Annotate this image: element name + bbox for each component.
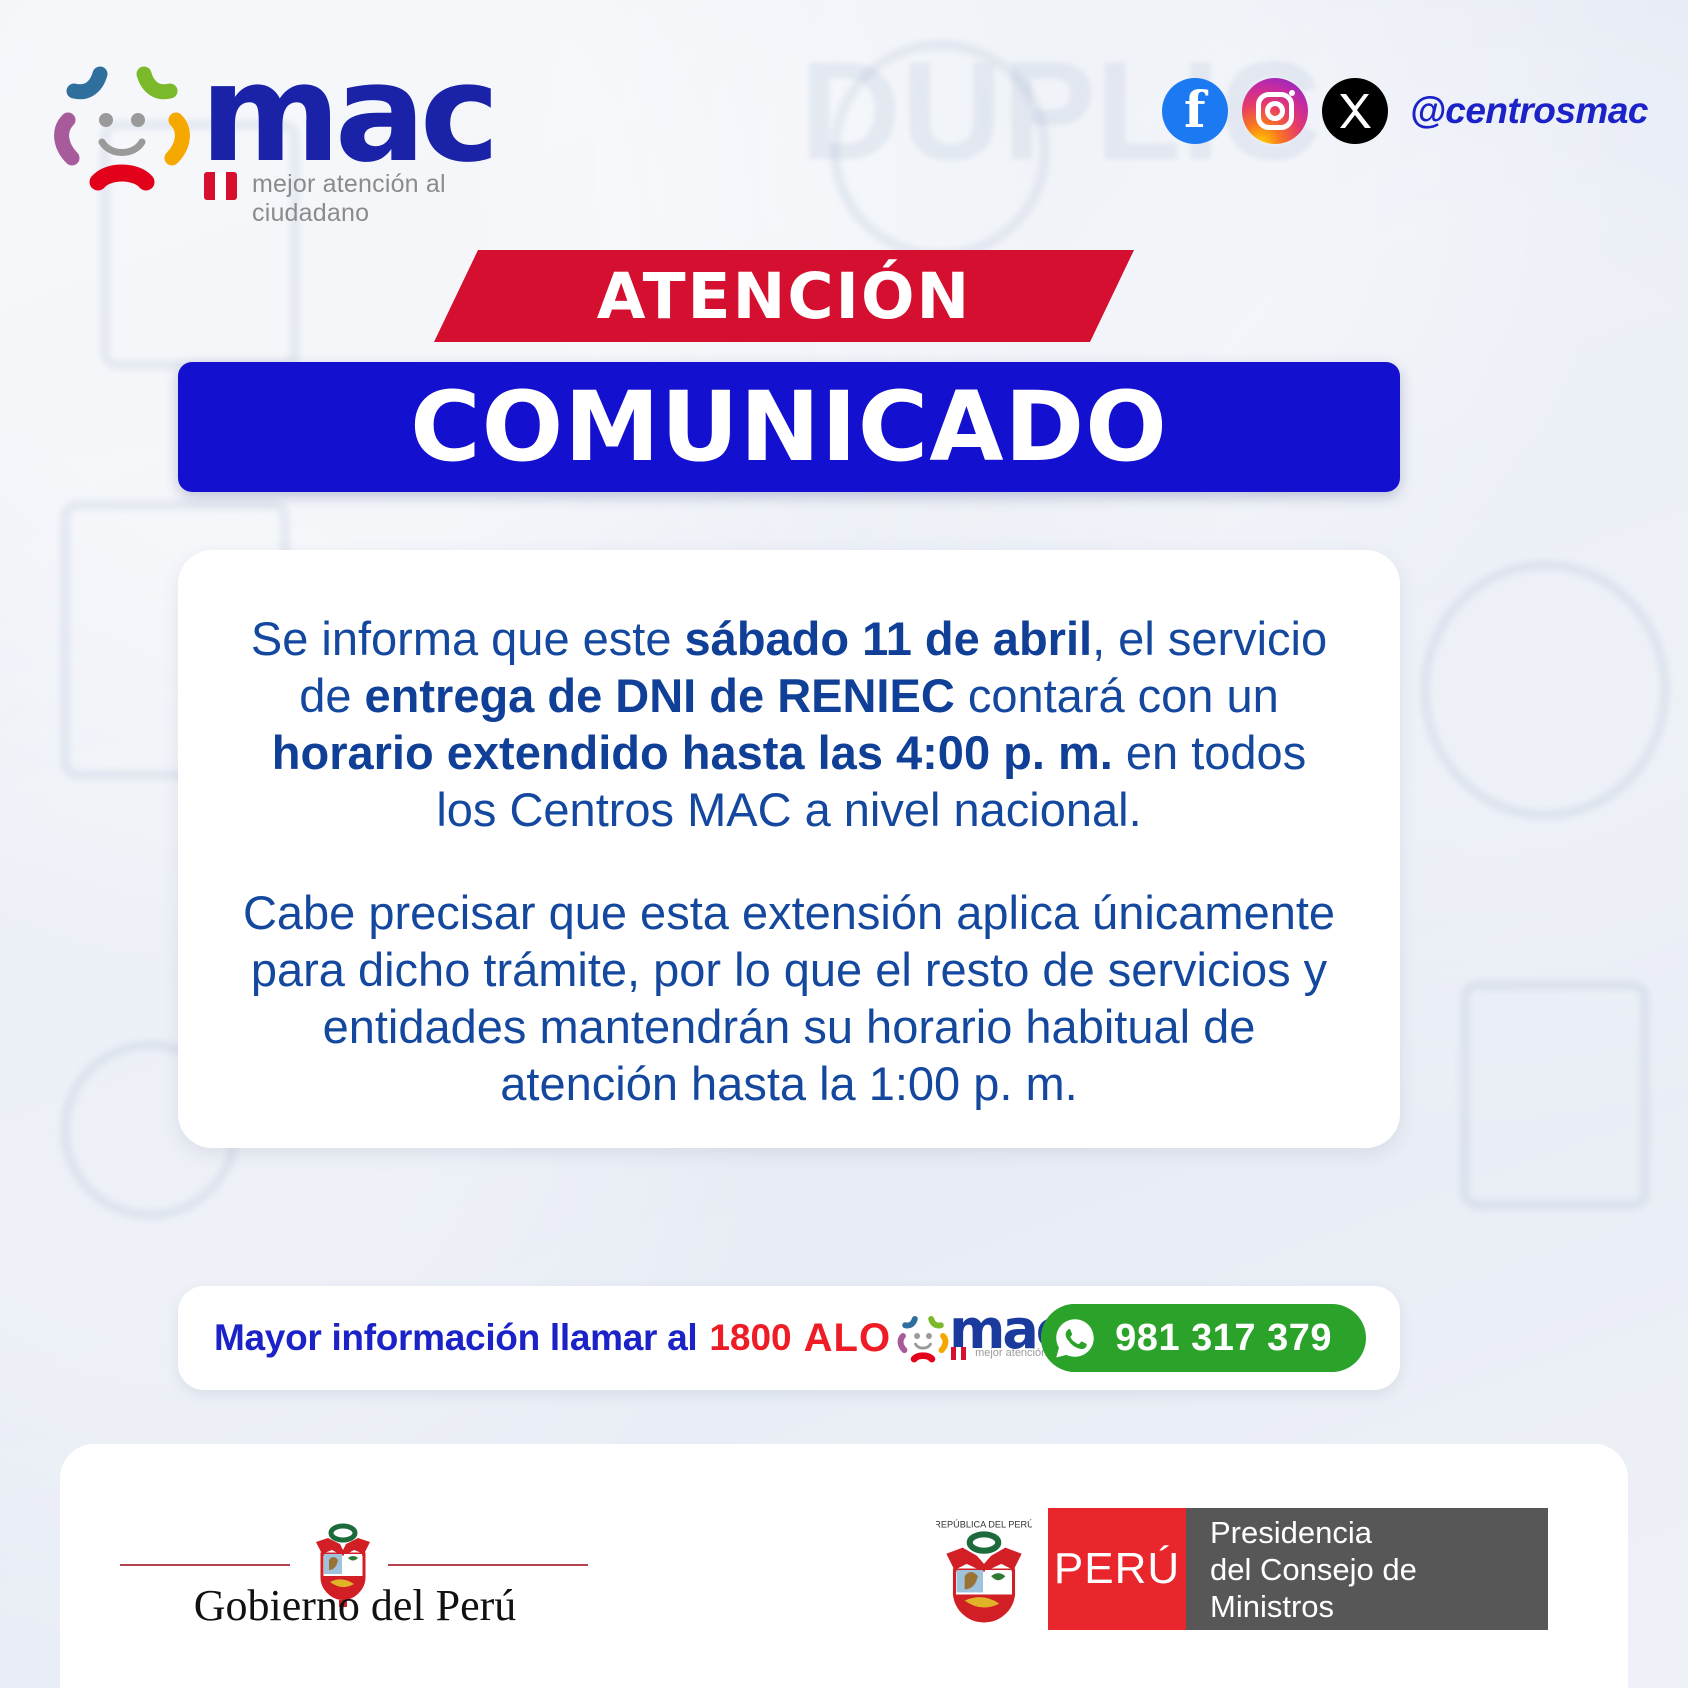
msg-bold-date: sábado 11 de abril — [685, 612, 1093, 665]
whatsapp-button[interactable]: 981 317 379 — [1041, 1304, 1366, 1372]
contact-info-label: Mayor información llamar al — [214, 1317, 697, 1359]
gobierno-del-peru-logo: Gobierno del Perú — [120, 1514, 590, 1644]
pcm-crest-caption: REPÚBLICA DEL PERÚ — [936, 1519, 1032, 1529]
mac-wordmark: mac — [200, 46, 494, 181]
divider-right — [388, 1564, 588, 1566]
poster-footer: Gobierno del Perú REPÚBLICA DEL PERÚ — [60, 1444, 1628, 1688]
instagram-icon[interactable] — [1242, 78, 1308, 144]
msg-bold-service: entrega de DNI de RENIEC — [365, 669, 955, 722]
poster-header: mac mejor atención al ciudadano @centros… — [0, 0, 1688, 215]
mac-logo: mac mejor atención al ciudadano — [52, 52, 552, 202]
pcm-line-1: Presidencia — [1210, 1514, 1548, 1551]
pcm-line-2: del Consejo de Ministros — [1210, 1551, 1548, 1625]
msg-part: Se informa que este — [251, 612, 685, 665]
watermark-shape — [1420, 560, 1670, 820]
x-twitter-icon[interactable] — [1322, 78, 1388, 144]
attention-label: ATENCIÓN — [597, 260, 972, 333]
whatsapp-number: 981 317 379 — [1115, 1317, 1332, 1360]
contact-strip: Mayor información llamar al 1800 ALO mac… — [178, 1286, 1400, 1390]
message-paragraph-2: Cabe precisar que esta extensión aplica … — [240, 884, 1338, 1112]
contact-phone-number: 1800 — [709, 1317, 791, 1359]
watermark-shape — [1460, 980, 1650, 1210]
comunicado-title: COMUNICADO — [410, 371, 1168, 483]
mac-star-icon — [52, 58, 192, 198]
message-card: Se informa que este sábado 11 de abril, … — [178, 550, 1400, 1148]
msg-bold-schedule: horario extendido hasta las 4:00 p. m. — [272, 726, 1113, 779]
divider-left — [120, 1564, 290, 1566]
pcm-logo: REPÚBLICA DEL PERÚ PERÚ Presidencia del — [920, 1508, 1548, 1630]
peru-flag-icon — [951, 1347, 971, 1360]
social-links: @centrosmac — [1162, 78, 1648, 144]
pcm-name-block: Presidencia del Consejo de Ministros — [1186, 1508, 1548, 1630]
message-paragraph-1: Se informa que este sábado 11 de abril, … — [240, 610, 1338, 838]
contact-info: Mayor información llamar al 1800 ALO mac… — [214, 1307, 1087, 1369]
peru-flag-icon — [204, 172, 248, 200]
comunicado-banner: COMUNICADO — [178, 362, 1400, 492]
mac-star-icon — [897, 1313, 949, 1365]
attention-banner: ATENCIÓN — [434, 250, 1134, 342]
pcm-country-block: PERÚ — [1048, 1508, 1186, 1630]
gobierno-label: Gobierno del Perú — [120, 1580, 590, 1631]
peru-coat-of-arms-icon: REPÚBLICA DEL PERÚ — [936, 1513, 1032, 1625]
poster-canvas: DUPLIC mac mejor atención al ciudadano — [0, 0, 1688, 1688]
social-handle[interactable]: @centrosmac — [1410, 90, 1648, 132]
message-body: Se informa que este sábado 11 de abril, … — [240, 610, 1338, 1112]
alo-label: ALO — [804, 1316, 891, 1361]
pcm-country-label: PERÚ — [1054, 1544, 1180, 1594]
facebook-icon[interactable] — [1162, 78, 1228, 144]
whatsapp-icon — [1041, 1304, 1109, 1372]
pcm-crest-block: REPÚBLICA DEL PERÚ — [920, 1508, 1048, 1630]
mac-tagline: mejor atención al ciudadano — [252, 170, 552, 228]
msg-part: contará con un — [955, 669, 1279, 722]
